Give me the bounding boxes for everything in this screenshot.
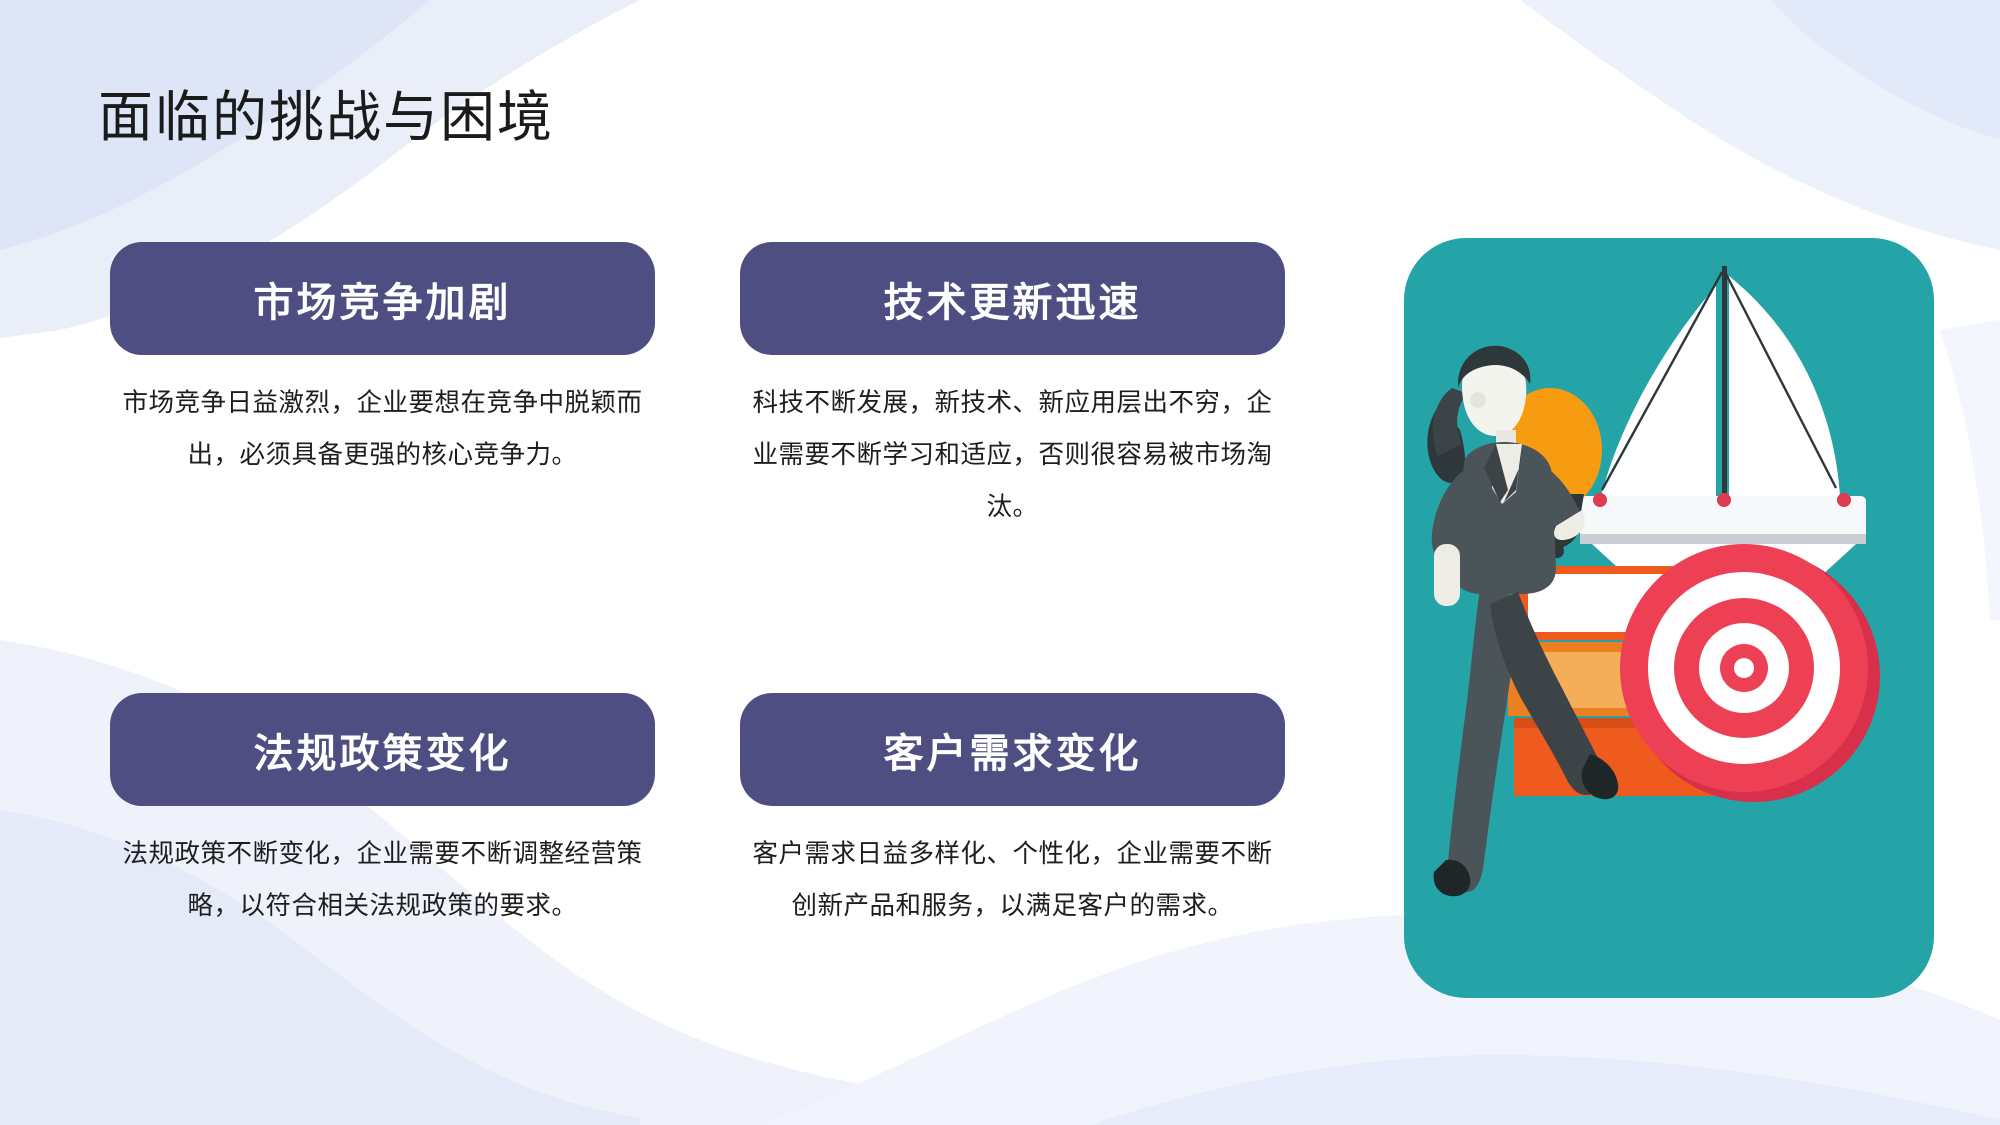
card-body-customer-demand: 客户需求日益多样化、个性化，企业需要不断创新产品和服务，以满足客户的需求。 [740,828,1285,932]
card-header-regulatory-policy: 法规政策变化 [110,693,655,806]
illustration-svg [1404,238,1934,998]
card-header-technology-update: 技术更新迅速 [740,242,1285,355]
challenge-card-technology-update: 技术更新迅速 科技不断发展，新技术、新应用层出不穷，企业需要不断学习和适应，否则… [740,242,1285,533]
woman-hand-left [1434,544,1460,606]
card-body-regulatory-policy: 法规政策不断变化，企业需要不断调整经营策略，以符合相关法规政策的要求。 [110,828,655,932]
blob-bottom-right-inner [1090,1055,2000,1125]
challenge-card-customer-demand: 客户需求变化 客户需求日益多样化、个性化，企业需要不断创新产品和服务，以满足客户… [740,693,1285,932]
slide-canvas: 面临的挑战与困境 市场竞争加剧 市场竞争日益激烈，企业要想在竞争中脱颖而出，必须… [0,0,2000,1125]
card-body-technology-update: 科技不断发展，新技术、新应用层出不穷，企业需要不断学习和适应，否则很容易被市场淘… [740,377,1285,533]
boat-dot-center [1717,493,1731,507]
challenge-card-regulatory-policy: 法规政策变化 法规政策不断变化，企业需要不断调整经营策略，以符合相关法规政策的要… [110,693,655,932]
boat-dot-left [1593,493,1607,507]
challenge-card-market-competition: 市场竞争加剧 市场竞争日益激烈，企业要想在竞争中脱颖而出，必须具备更强的核心竞争… [110,242,655,481]
woman-ear [1470,392,1486,408]
blob-top-right-inner [1770,0,2000,140]
page-title: 面临的挑战与困境 [98,72,554,152]
businesswoman-idea-target-illustration [1404,238,1934,998]
card-body-market-competition: 市场竞争日益激烈，企业要想在竞争中脱颖而出，必须具备更强的核心竞争力。 [110,377,655,481]
boat-deck-shadow [1580,534,1866,544]
boat-dot-right [1837,493,1851,507]
blob-right-mid [1940,320,2000,620]
card-header-market-competition: 市场竞争加剧 [110,242,655,355]
target-bullseye [1734,658,1754,678]
card-header-customer-demand: 客户需求变化 [740,693,1285,806]
blob-top-right [1520,0,2000,250]
